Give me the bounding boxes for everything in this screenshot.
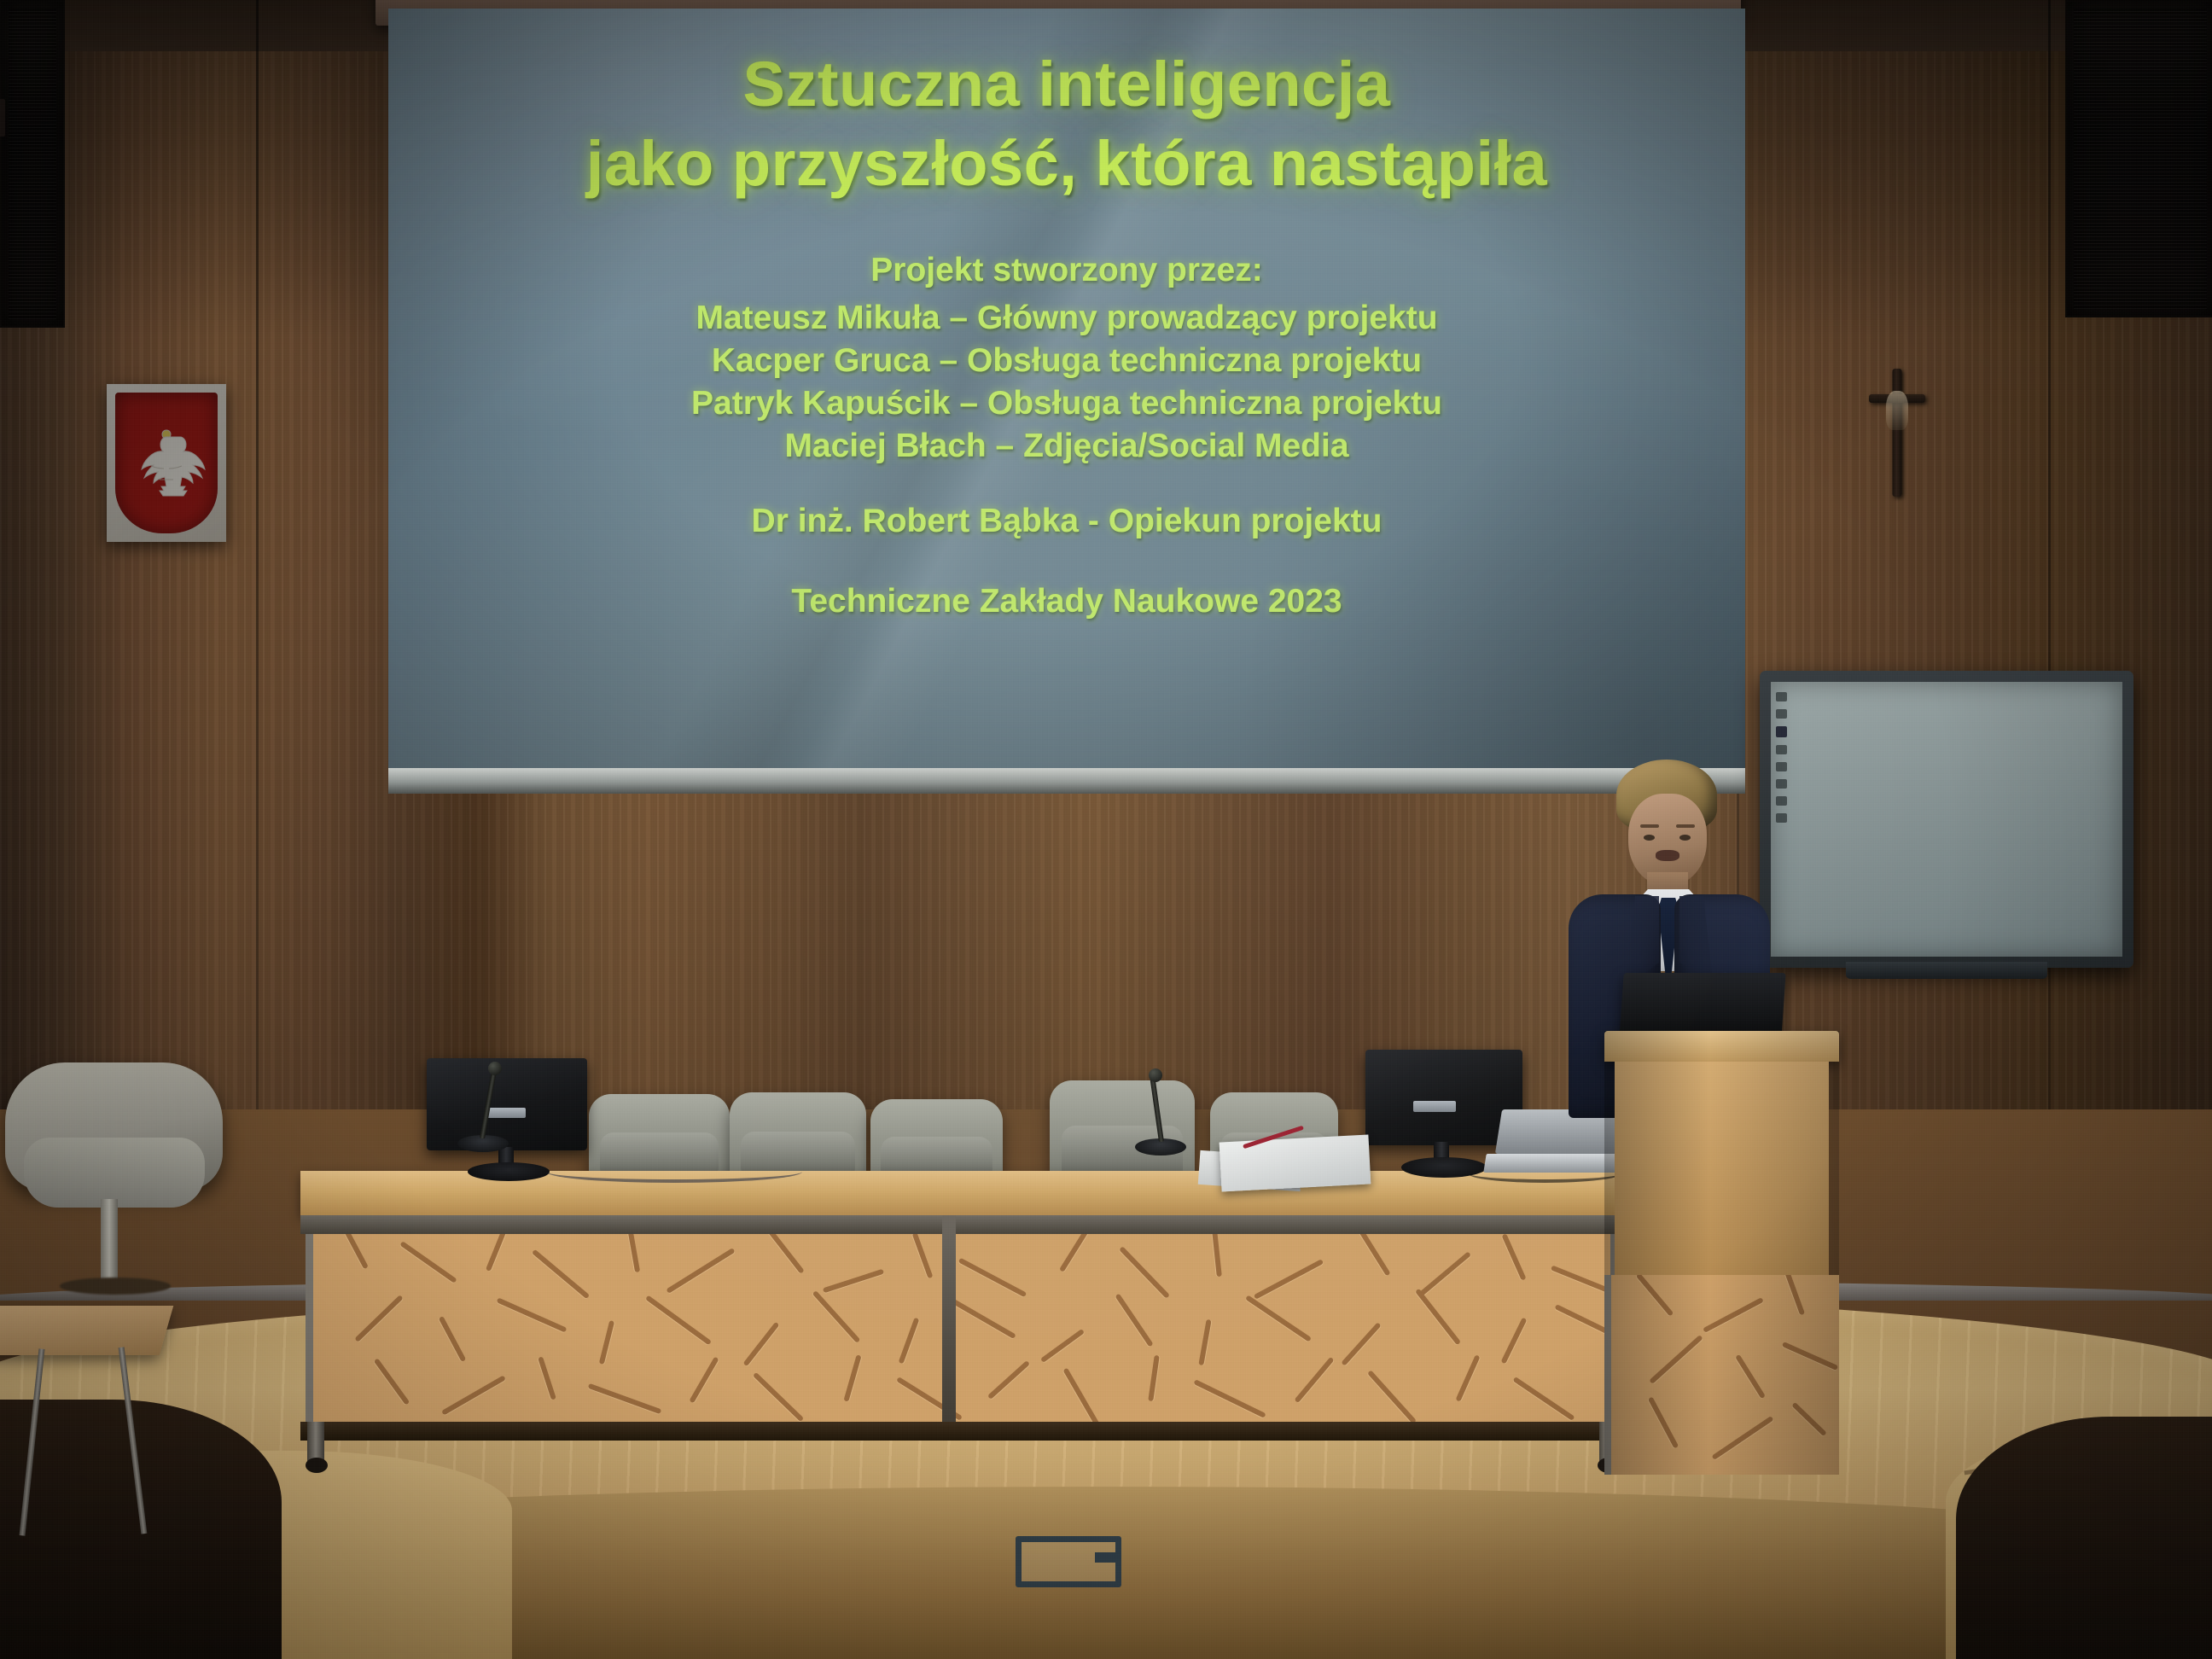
whiteboard-tool-icon[interactable] (1776, 745, 1787, 754)
presenter-eye (1679, 835, 1691, 841)
slide-credits-block: Projekt stworzony przez: Mateusz Mikuła … (691, 249, 1442, 622)
tub-chair (5, 1062, 223, 1259)
speaker-bracket (0, 99, 5, 137)
credit-line: Patryk Kapuścik – Obsługa techniczna pro… (691, 382, 1442, 425)
small-side-table (0, 1306, 166, 1434)
whiteboard-tool-icon[interactable] (1776, 726, 1787, 737)
presenter-eyebrow (1640, 824, 1659, 828)
credits-heading: Projekt stworzony przez: (691, 249, 1442, 292)
lectern-shading (1604, 1031, 1839, 1475)
screen-bottom-bar (388, 768, 1745, 794)
whiteboard-tool-icon[interactable] (1776, 813, 1787, 823)
interactive-whiteboard[interactable] (1760, 671, 2133, 968)
whiteboard-pen-tray (1846, 962, 2047, 979)
presentation-slide: Sztuczna inteligencja jako przyszłość, k… (388, 9, 1745, 768)
whiteboard-tool-icon[interactable] (1776, 762, 1787, 771)
crucifix-vertical (1893, 369, 1902, 497)
desk-leg (307, 1422, 324, 1463)
institution-line: Techniczne Zakłady Naukowe 2023 (691, 580, 1442, 623)
whiteboard-tool-icon[interactable] (1776, 709, 1787, 719)
table-top (0, 1306, 173, 1355)
presenter-eye (1644, 835, 1655, 841)
wall-seam (256, 0, 259, 1126)
floor-shadow-right (1956, 1417, 2212, 1659)
slide-title-line-2: jako przyszłość, która nastąpiła (586, 124, 1547, 203)
wall-crucifix (1869, 369, 1925, 497)
polish-eagle-emblem (107, 384, 226, 542)
monitor-logo (1413, 1101, 1456, 1112)
chair-base-shadow (60, 1278, 171, 1295)
floor-cable-box (1016, 1536, 1121, 1587)
slide-title-line-1: Sztuczna inteligencja (743, 44, 1391, 124)
supervisor-line: Dr inż. Robert Bąbka - Opiekun projektu (691, 500, 1442, 543)
speaker-grille (9, 9, 56, 319)
whiteboard-tool-icon[interactable] (1776, 779, 1787, 789)
presenter-mouth (1656, 850, 1679, 861)
whiteboard-toolbar[interactable] (1776, 692, 1787, 823)
desk-front-panel (306, 1234, 1618, 1422)
whiteboard-tool-icon[interactable] (1776, 796, 1787, 806)
speaker-grille (2074, 9, 2207, 309)
credit-line: Kacper Gruca – Obsługa techniczna projek… (691, 340, 1442, 382)
microphone-capsule (488, 1062, 502, 1075)
desk-panel-divider (942, 1215, 956, 1429)
lecture-hall-scene: Sztuczna inteligencja jako przyszłość, k… (0, 0, 2212, 1659)
whiteboard-surface[interactable] (1771, 682, 2122, 957)
podium-monitor[interactable] (1619, 973, 1785, 1039)
credit-line: Mateusz Mikuła – Główny prowadzący proje… (691, 297, 1442, 340)
projection-screen: Sztuczna inteligencja jako przyszłość, k… (388, 9, 1745, 768)
desk-cable (546, 1161, 802, 1183)
emblem-shading (107, 384, 226, 542)
microphone-capsule (1149, 1068, 1162, 1082)
credit-line: Maciej Błach – Zdjęcia/Social Media (691, 425, 1442, 468)
chair-pedestal (101, 1199, 118, 1284)
gooseneck-microphone-right[interactable] (1135, 1138, 1203, 1232)
projection-screen-frame: Sztuczna inteligencja jako przyszłość, k… (388, 9, 1745, 794)
chair-seat (24, 1138, 205, 1208)
laptop-cable (1468, 1164, 1621, 1183)
desk-base (300, 1422, 1623, 1441)
wall-speaker-left (0, 0, 65, 328)
crucifix-figure (1886, 391, 1908, 430)
desk-caster (306, 1458, 328, 1473)
whiteboard-tool-icon[interactable] (1776, 692, 1787, 701)
presenter-eyebrow (1676, 824, 1695, 828)
documents-on-desk (1220, 1134, 1371, 1191)
lectern (1604, 1031, 1839, 1475)
wall-speaker-right (2065, 0, 2212, 317)
gooseneck-microphone-left[interactable] (457, 1135, 526, 1229)
monitor-logo (485, 1108, 526, 1118)
